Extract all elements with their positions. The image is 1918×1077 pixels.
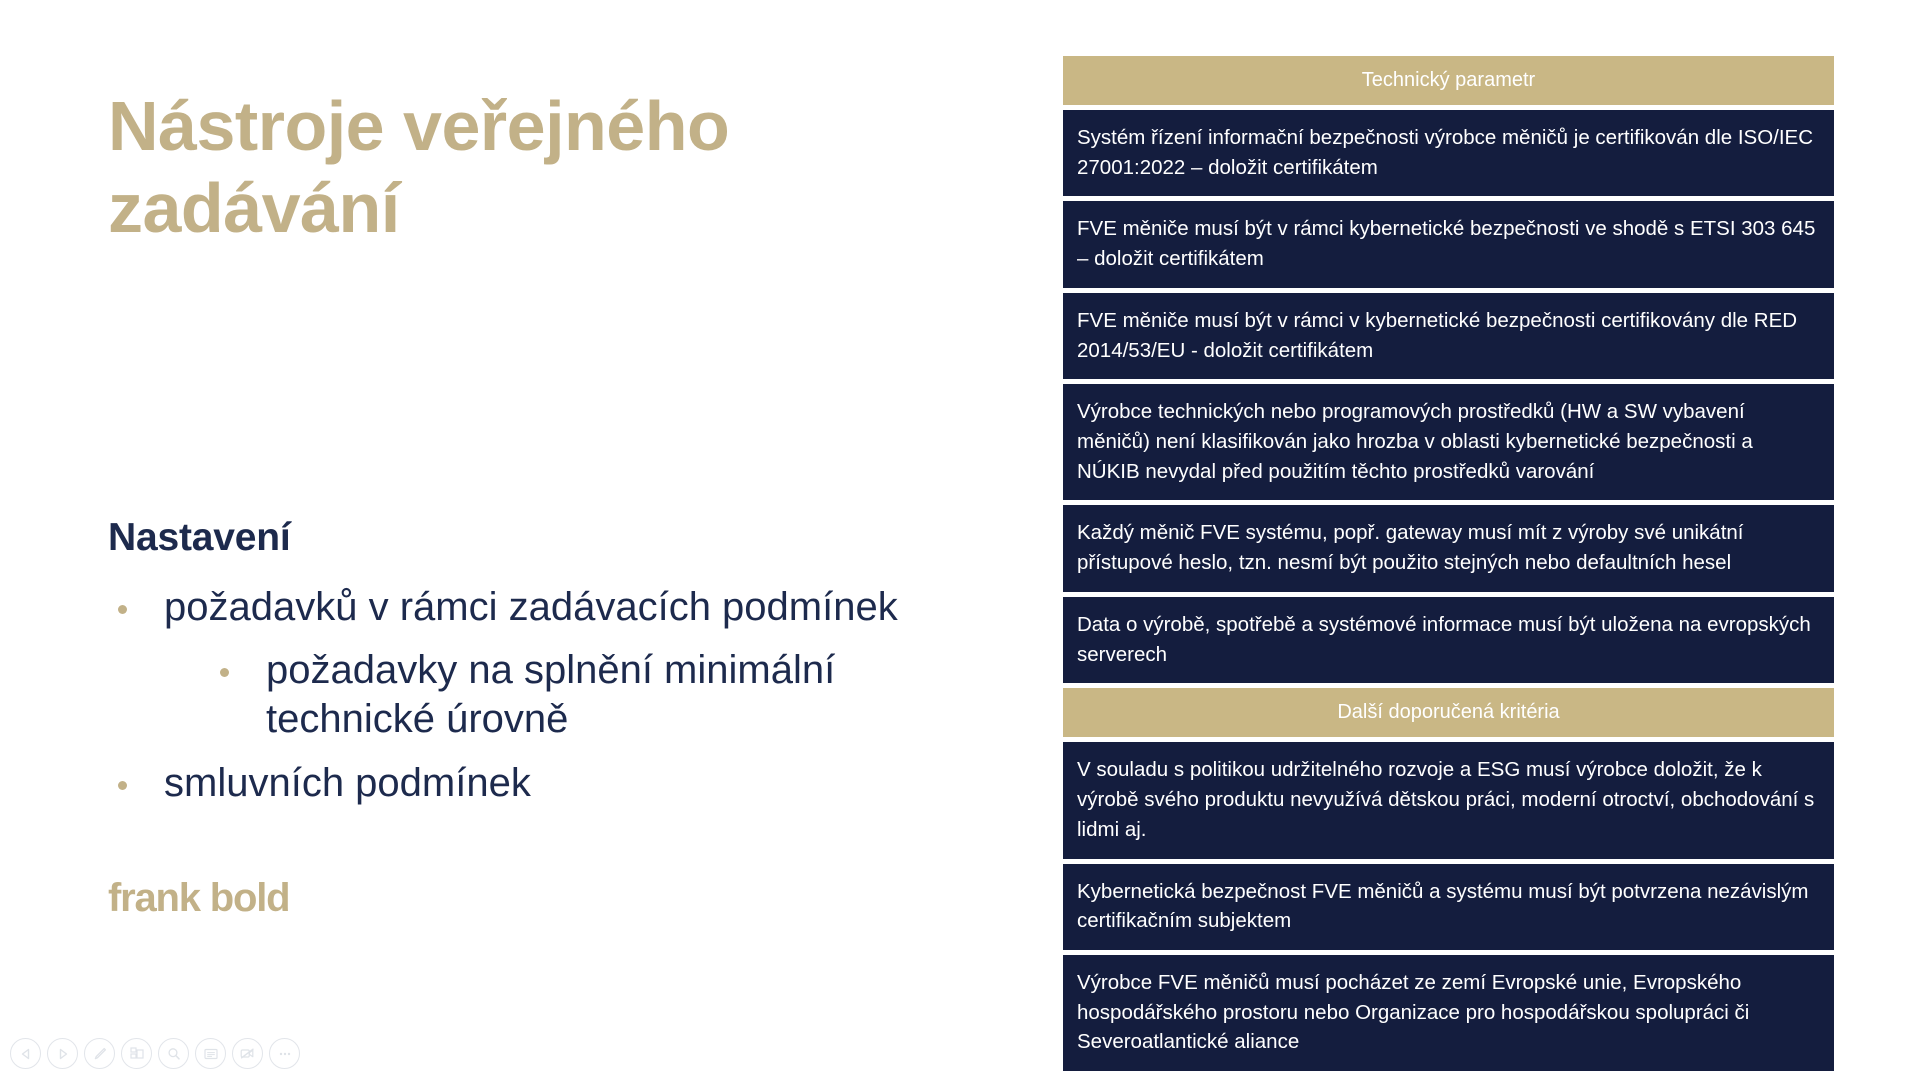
table-cell: Kybernetická bezpečnost FVE měničů a sys… (1063, 861, 1834, 950)
table-row: Výrobce FVE měničů musí pocházet ze zemí… (1063, 952, 1834, 1071)
table-row: V souladu s politikou udržitelného rozvo… (1063, 739, 1834, 858)
table-cell: Systém řízení informační bezpečnosti výr… (1063, 107, 1834, 196)
table-cell: FVE měniče musí být v rámci v kybernetic… (1063, 290, 1834, 379)
table-section-header-row: Další doporučená kritéria (1063, 685, 1834, 737)
table-cell: Výrobce technických nebo programových pr… (1063, 381, 1834, 500)
brand-logo: frank bold (108, 876, 289, 921)
table-section-header-technicky-parametr: Technický parametr (1063, 56, 1834, 105)
table-cell: Každý měnič FVE systému, popř. gateway m… (1063, 502, 1834, 591)
list-item: smluvních podmínek (108, 759, 908, 808)
presentation-slide: Nástroje veřejného zadávání Nastavení po… (0, 0, 1918, 1077)
triangle-right-icon (56, 1047, 70, 1061)
bullet-dot-icon (118, 781, 127, 790)
presenter-notes-button[interactable] (195, 1038, 226, 1069)
bullet-list: požadavků v rámci zadávacích podmínek po… (108, 583, 908, 816)
table-row: Kybernetická bezpečnost FVE měničů a sys… (1063, 861, 1834, 950)
table-cell: FVE měniče musí být v rámci kybernetické… (1063, 198, 1834, 287)
table-section-header-dalsi-doporucena-kriteria: Další doporučená kritéria (1063, 685, 1834, 737)
list-item-label: smluvních podmínek (164, 761, 531, 805)
more-options-button[interactable] (269, 1038, 300, 1069)
table-row: Každý měnič FVE systému, popř. gateway m… (1063, 502, 1834, 591)
criteria-table: Technický parametr Systém řízení informa… (1061, 54, 1836, 1073)
triangle-left-icon (19, 1047, 33, 1061)
previous-slide-button[interactable] (10, 1038, 41, 1069)
page-title: Nástroje veřejného zadávání (108, 86, 868, 250)
table-cell: Data o výrobě, spotřebě a systémové info… (1063, 594, 1834, 683)
bullet-dot-icon (220, 668, 229, 677)
grid-icon (129, 1046, 145, 1062)
pen-icon (92, 1046, 108, 1062)
slide-overview-button[interactable] (121, 1038, 152, 1069)
bullet-dot-icon (118, 605, 127, 614)
table-row: FVE měniče musí být v rámci v kybernetic… (1063, 290, 1834, 379)
table-cell: Výrobce FVE měničů musí pocházet ze zemí… (1063, 952, 1834, 1071)
ellipsis-icon (277, 1046, 293, 1062)
table-cell: V souladu s politikou udržitelného rozvo… (1063, 739, 1834, 858)
table-row: Výrobce technických nebo programových pr… (1063, 381, 1834, 500)
list-item-label: požadavků v rámci zadávacích podmínek (164, 585, 898, 629)
video-off-icon (239, 1045, 256, 1062)
camera-off-button[interactable] (232, 1038, 263, 1069)
section-heading: Nastavení (108, 516, 290, 560)
list-item: požadavky na splnění minimální technické… (108, 646, 908, 744)
notes-icon (203, 1046, 219, 1062)
magnifier-icon (166, 1046, 182, 1062)
slide-left-column: Nástroje veřejného zadávání Nastavení po… (108, 86, 938, 1006)
table-row: Systém řízení informační bezpečnosti výr… (1063, 107, 1834, 196)
list-item: požadavků v rámci zadávacích podmínek (108, 583, 908, 632)
table-section-header-row: Technický parametr (1063, 56, 1834, 105)
zoom-button[interactable] (158, 1038, 189, 1069)
list-item-label: požadavky na splnění minimální technické… (266, 648, 835, 741)
pen-tool-button[interactable] (84, 1038, 115, 1069)
next-slide-button[interactable] (47, 1038, 78, 1069)
table-row: FVE měniče musí být v rámci kybernetické… (1063, 198, 1834, 287)
table-row: Data o výrobě, spotřebě a systémové info… (1063, 594, 1834, 683)
presenter-toolbar (10, 1038, 300, 1069)
